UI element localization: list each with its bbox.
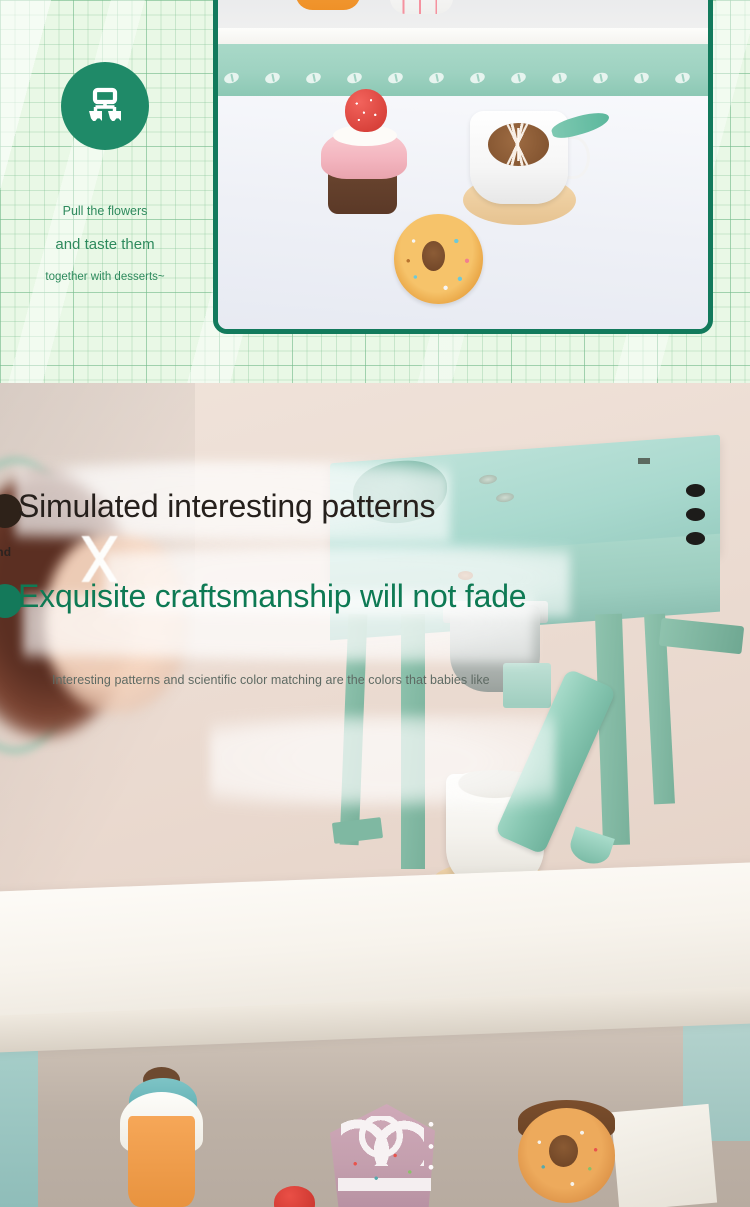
toy-strawberry	[345, 89, 387, 132]
left-info-column: Pull the flowers and taste them together…	[0, 0, 210, 383]
headline-primary: Simulated interesting patterns	[18, 488, 435, 525]
toy-icecream-cup-white	[390, 0, 454, 14]
coffee-bean-icon	[264, 71, 281, 85]
tagline-2: and taste them	[55, 236, 154, 253]
coffee-bean-pattern	[218, 69, 708, 87]
tagline-1: Pull the flowers	[63, 204, 148, 218]
coffee-bean-icon	[387, 71, 404, 85]
org-chart-icon	[82, 83, 128, 129]
latte-art-leaf	[488, 123, 549, 166]
lifestyle-photo-section: nd Simulated interesting patterns Exquis…	[0, 383, 750, 1207]
coffee-bean-icon	[469, 71, 486, 85]
coffee-bean-icon	[346, 71, 363, 85]
headline-secondary: Exquisite craftsmanship will not fade	[18, 578, 526, 615]
coffee-bean-icon	[223, 71, 240, 85]
subline-text: Interesting patterns and scientific colo…	[52, 673, 490, 687]
coffee-bean-icon	[510, 71, 527, 85]
dessert-photo	[218, 0, 708, 329]
tagline-3: together with desserts~	[45, 271, 164, 283]
grid-paper-section: Pull the flowers and taste them together…	[0, 0, 750, 383]
dessert-photo-frame	[213, 0, 713, 334]
coffee-bean-icon	[592, 71, 609, 85]
coffee-bean-icon	[428, 71, 445, 85]
overlay-copy: Simulated interesting patterns Exquisite…	[0, 383, 750, 1207]
coffee-bean-icon	[633, 71, 650, 85]
coffee-bean-icon	[305, 71, 322, 85]
toy-donut	[394, 214, 482, 304]
coffee-bean-icon	[674, 71, 691, 85]
coffee-bean-icon	[551, 71, 568, 85]
org-chart-badge	[61, 62, 149, 150]
